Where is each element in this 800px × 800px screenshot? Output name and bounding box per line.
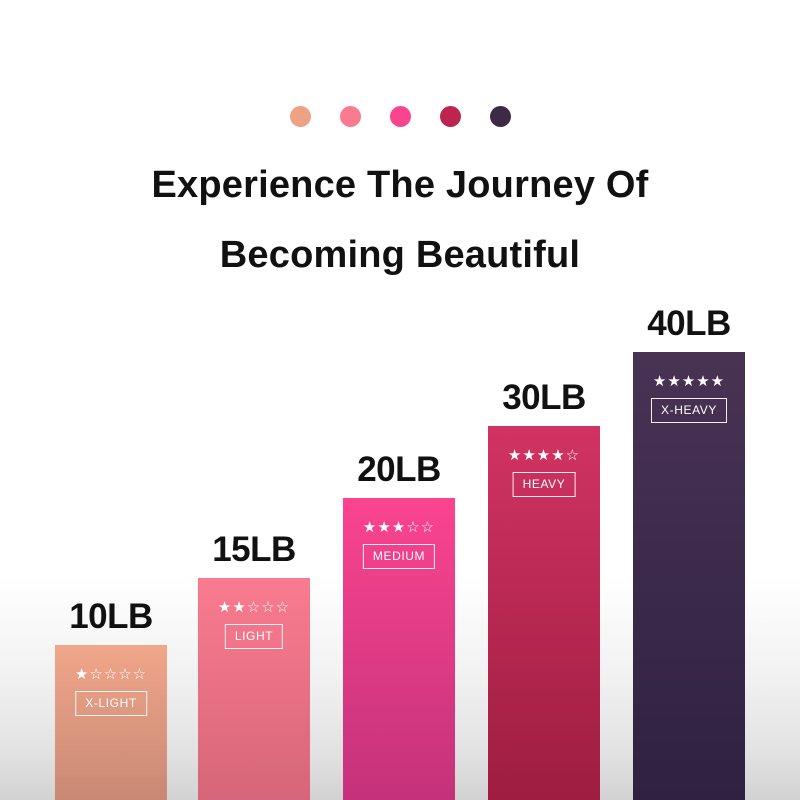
bar-value-label: 20LB bbox=[331, 450, 467, 490]
resistance-level-badge: HEAVY bbox=[513, 472, 576, 497]
page-title-line-2: Becoming Beautiful bbox=[0, 220, 800, 290]
star-rating-icon: ★☆☆☆☆ bbox=[55, 667, 167, 682]
bar-rect[interactable]: ★★★★☆HEAVY bbox=[488, 426, 600, 800]
dot-heavy bbox=[440, 106, 461, 127]
bar-value-label: 40LB bbox=[621, 304, 757, 344]
resistance-level-badge: MEDIUM bbox=[363, 544, 435, 569]
resistance-band-bar-chart: 10LB★☆☆☆☆X-LIGHT15LB★★☆☆☆LIGHT20LB★★★☆☆M… bbox=[0, 300, 800, 800]
star-rating-icon: ★★★★★ bbox=[633, 374, 745, 389]
dot-x-light bbox=[290, 106, 311, 127]
star-rating-icon: ★★☆☆☆ bbox=[198, 600, 310, 615]
star-rating-icon: ★★★☆☆ bbox=[343, 520, 455, 535]
bar-rect[interactable]: ★★★★★X-HEAVY bbox=[633, 352, 745, 800]
dot-medium bbox=[390, 106, 411, 127]
dot-x-heavy bbox=[490, 106, 511, 127]
page-title-line-1: Experience The Journey Of bbox=[0, 150, 800, 220]
page-title: Experience The Journey Of Becoming Beaut… bbox=[0, 150, 800, 290]
bar-group-x-light[interactable]: 10LB★☆☆☆☆X-LIGHT bbox=[55, 300, 167, 800]
bar-group-heavy[interactable]: 30LB★★★★☆HEAVY bbox=[488, 300, 600, 800]
bar-value-label: 30LB bbox=[476, 378, 612, 418]
bar-group-medium[interactable]: 20LB★★★☆☆MEDIUM bbox=[343, 300, 455, 800]
bar-value-label: 10LB bbox=[43, 597, 179, 637]
resistance-level-badge: LIGHT bbox=[225, 624, 283, 649]
resistance-level-badge: X-HEAVY bbox=[651, 398, 727, 423]
resistance-level-badge: X-LIGHT bbox=[75, 691, 147, 716]
bar-value-label: 15LB bbox=[186, 530, 322, 570]
bar-rect[interactable]: ★☆☆☆☆X-LIGHT bbox=[55, 645, 167, 800]
bar-group-x-heavy[interactable]: 40LB★★★★★X-HEAVY bbox=[633, 300, 745, 800]
dot-light bbox=[340, 106, 361, 127]
bar-rect[interactable]: ★★★☆☆MEDIUM bbox=[343, 498, 455, 800]
star-rating-icon: ★★★★☆ bbox=[488, 448, 600, 463]
bar-rect[interactable]: ★★☆☆☆LIGHT bbox=[198, 578, 310, 800]
bar-group-light[interactable]: 15LB★★☆☆☆LIGHT bbox=[198, 300, 310, 800]
dot-row bbox=[0, 106, 800, 127]
